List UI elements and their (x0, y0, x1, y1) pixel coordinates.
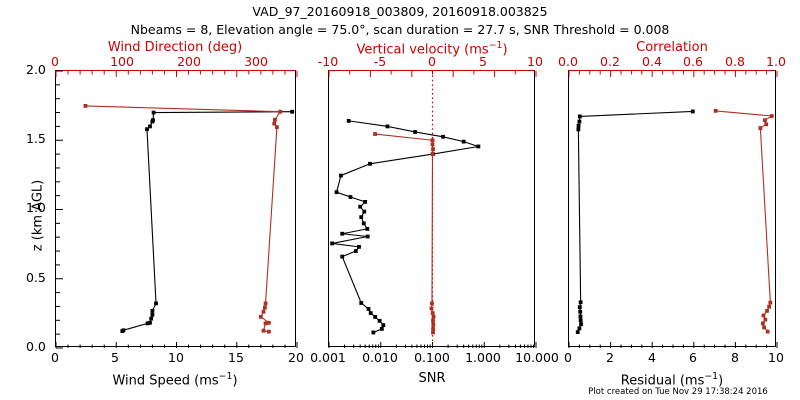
panel3-top-axis-title: Correlation (636, 41, 708, 54)
figure-title-line-1: VAD_97_20160918_003809, 20160918.003825 (252, 6, 547, 19)
panel-wind-speed-direction (55, 70, 296, 347)
panel3-bottom-tick-2: 4 (648, 352, 656, 365)
panel2-plot-area (329, 71, 536, 348)
panel2-bottom-tick-3: 1.000 (465, 352, 501, 365)
panel1-plot-area (56, 71, 297, 348)
panel1-top-tick-1: 100 (110, 56, 134, 69)
panel-residual-correlation (568, 70, 776, 347)
panel3-top-tick-2: 0.4 (642, 56, 662, 69)
y-tick-1: 0.5 (26, 272, 46, 285)
panel3-top-tick-5: 1.0 (766, 56, 786, 69)
panel2-top-tick-2: 0 (428, 56, 436, 69)
y-tick-4: 2.0 (26, 64, 46, 77)
panel3-top-tick-0: 0.0 (558, 56, 578, 69)
panel1-top-tick-0: 0 (51, 56, 59, 69)
panel3-bottom-tick-0: 0 (564, 352, 572, 365)
plot-created-timestamp: Plot created on Tue Nov 29 17:38:24 2016 (588, 388, 768, 397)
panel2-top-tick-3: 5 (479, 56, 487, 69)
panel3-plot-area (569, 71, 777, 348)
panel1-x-axis-title: Wind Speed (ms−1) (112, 372, 237, 387)
panel3-bottom-tick-1: 2 (606, 352, 614, 365)
panel1-bottom-tick-4: 20 (288, 352, 304, 365)
plot-canvas: VAD_97_20160918_003809, 20160918.003825 … (0, 0, 800, 400)
panel2-bottom-tick-4: 10.000 (515, 352, 559, 365)
panel-snr-vertical-velocity (328, 70, 535, 347)
panel3-bottom-tick-4: 8 (731, 352, 739, 365)
panel1-top-tick-3: 300 (244, 56, 268, 69)
panel3-x-axis-title: Residual (ms−1) (621, 372, 723, 387)
panel2-bottom-tick-1: 0.010 (362, 352, 398, 365)
panel2-top-tick-0: -10 (318, 56, 338, 69)
panel1-bottom-tick-3: 15 (228, 352, 244, 365)
y-tick-2: 1.0 (26, 202, 46, 215)
y-axis-label: z (km AGL) (31, 156, 46, 276)
panel3-top-tick-1: 0.2 (600, 56, 620, 69)
figure-title-line-2: Nbeams = 8, Elevation angle = 75.0°, sca… (131, 24, 670, 37)
panel2-bottom-tick-0: 0.001 (310, 352, 346, 365)
panel1-bottom-tick-0: 0 (51, 352, 59, 365)
panel2-bottom-tick-2: 0.100 (414, 352, 450, 365)
panel1-bottom-tick-1: 5 (111, 352, 119, 365)
panel3-top-tick-3: 0.6 (683, 56, 703, 69)
panel1-top-tick-2: 200 (177, 56, 201, 69)
panel3-data-series (576, 109, 774, 334)
panel1-data-series (84, 104, 295, 334)
panel1-bottom-tick-2: 10 (168, 352, 184, 365)
panel3-bottom-tick-5: 10 (768, 352, 784, 365)
y-tick-3: 1.5 (26, 133, 46, 146)
panel3-top-tick-4: 0.8 (725, 56, 745, 69)
panel2-top-tick-1: -5 (374, 56, 386, 69)
panel2-data-series (330, 119, 480, 334)
panel2-top-tick-4: 10 (527, 56, 543, 69)
y-tick-0: 0.0 (26, 341, 46, 354)
panel2-x-axis-title: SNR (418, 372, 445, 385)
panel3-bottom-tick-3: 6 (689, 352, 697, 365)
panel1-top-axis-title: Wind Direction (deg) (108, 41, 242, 54)
